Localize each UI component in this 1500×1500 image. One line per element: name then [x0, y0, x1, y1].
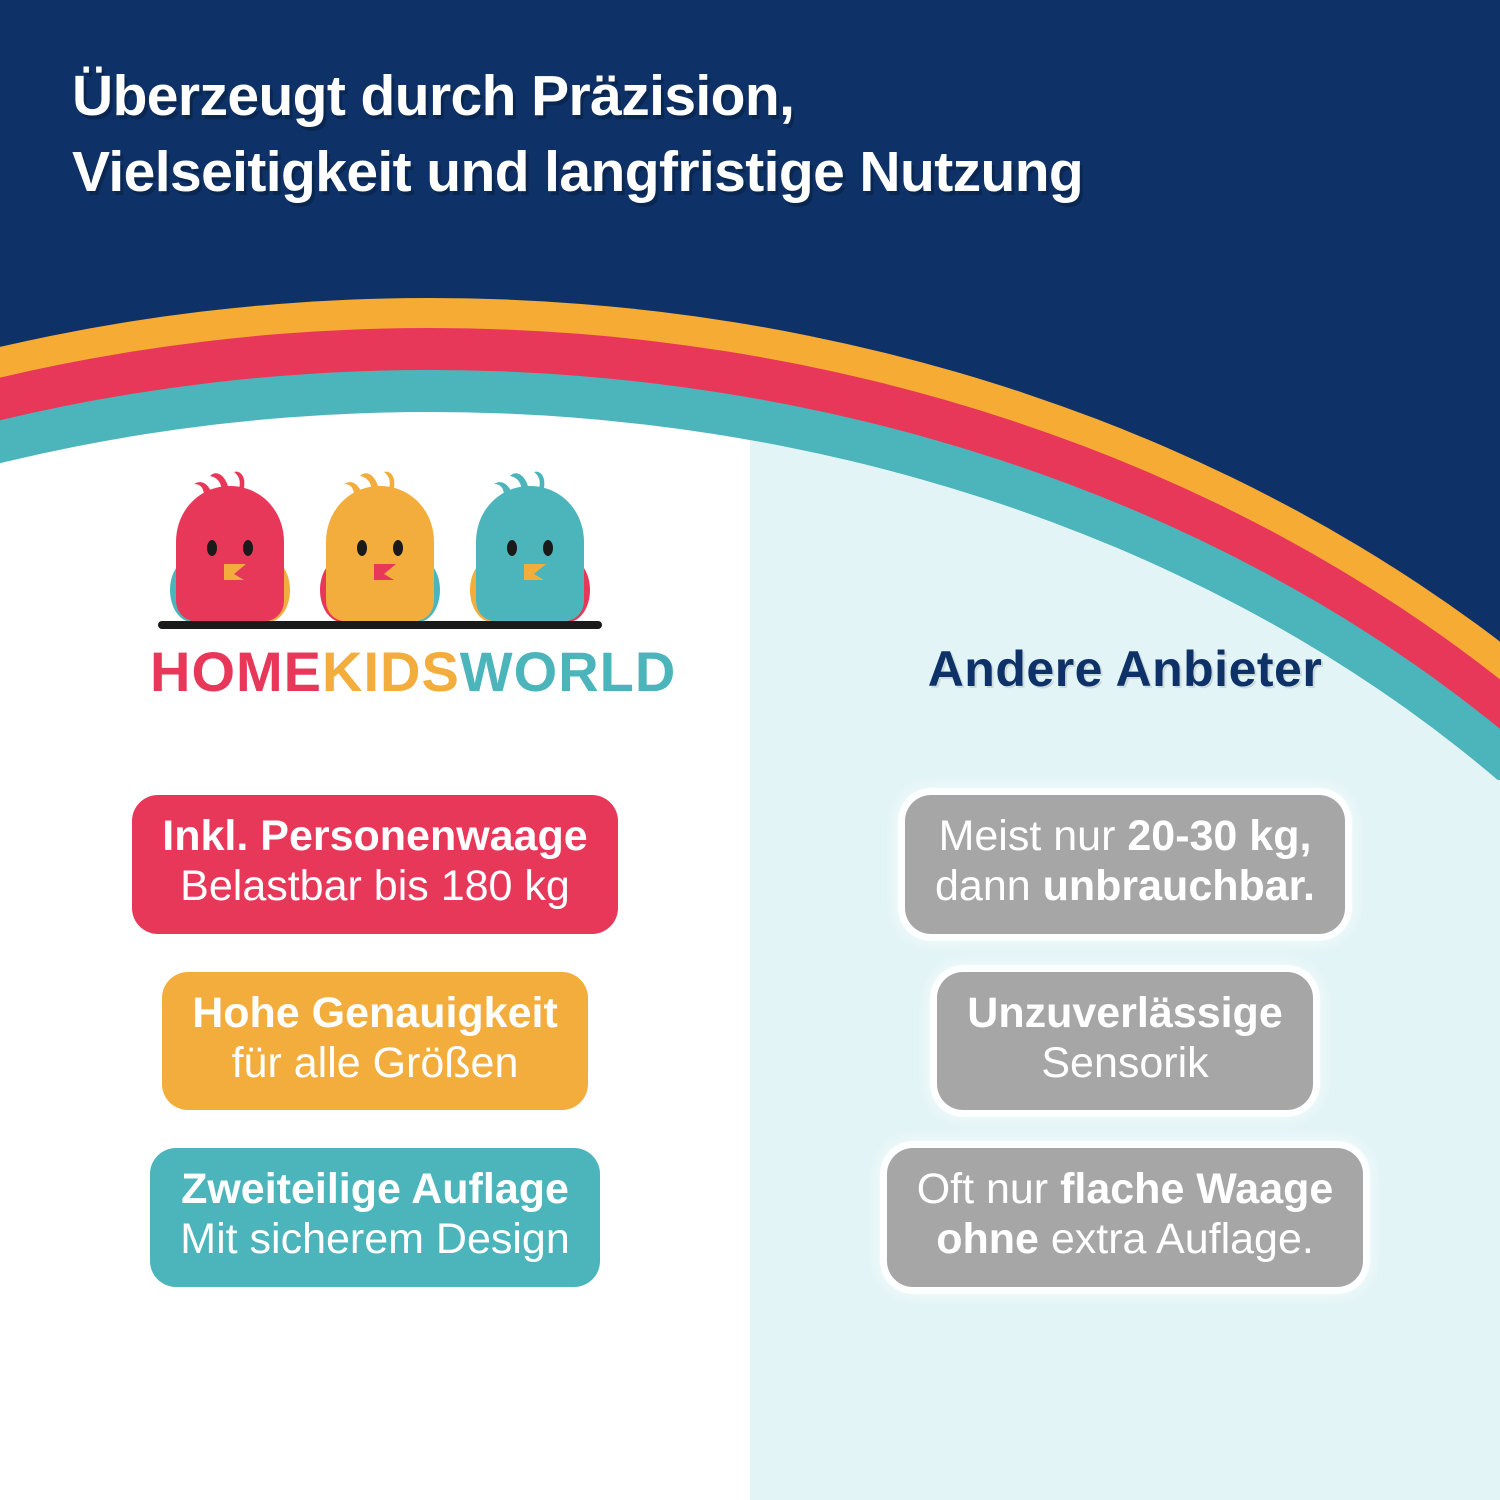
- benefit-card-3: Zweiteilige Auflage Mit sicherem Design: [150, 1148, 600, 1287]
- left-benefit-list: Inkl. Personenwaage Belastbar bis 180 kg…: [0, 795, 750, 1287]
- drawback-3-l2-plain: extra Auflage.: [1039, 1215, 1314, 1263]
- drawback-card-2: Unzuverlässige Sensorik: [937, 972, 1312, 1111]
- drawback-card-3: Oft nur flache Waage ohne extra Auflage.: [887, 1148, 1364, 1287]
- headline-line-1: Überzeugt durch Präzision,: [72, 64, 794, 128]
- headline-line-2: Vielseitigkeit und langfristige Nutzung: [72, 134, 1412, 210]
- drawback-card-2-title: Unzuverlässige: [967, 988, 1282, 1038]
- bird-teal-icon: [470, 472, 590, 622]
- bird-pink-icon: [170, 472, 290, 622]
- brand-logo: HOMEKIDSWORLD: [150, 468, 610, 700]
- drawback-card-3-line-1: Oft nur flache Waage: [917, 1164, 1334, 1214]
- wordmark-home: HOME: [150, 640, 322, 703]
- bird-orange-icon: [320, 472, 440, 622]
- drawback-1-l1-bold: 20-30 kg,: [1127, 812, 1311, 860]
- drawback-card-1-line-1: Meist nur 20-30 kg,: [935, 811, 1315, 861]
- three-birds-on-branch-icon: [150, 468, 610, 638]
- right-column-title: Andere Anbieter: [750, 640, 1500, 698]
- benefit-card-1-title: Inkl. Personenwaage: [162, 811, 587, 861]
- benefit-card-1: Inkl. Personenwaage Belastbar bis 180 kg: [132, 795, 617, 934]
- drawback-card-1: Meist nur 20-30 kg, dann unbrauchbar.: [905, 795, 1345, 934]
- drawback-1-l1-plain: Meist nur: [939, 812, 1128, 860]
- benefit-card-2: Hohe Genauigkeit für alle Größen: [162, 972, 588, 1111]
- benefit-card-2-subtitle: für alle Größen: [192, 1038, 558, 1088]
- benefit-card-2-title: Hohe Genauigkeit: [192, 988, 558, 1038]
- competitor-drawback-list: Meist nur 20-30 kg, dann unbrauchbar. Un…: [750, 795, 1500, 1287]
- drawback-3-l1-bold: flache Waage: [1060, 1165, 1333, 1213]
- benefit-card-3-subtitle: Mit sicherem Design: [180, 1214, 570, 1264]
- drawback-1-l2-plain: dann: [935, 862, 1043, 910]
- benefit-card-1-subtitle: Belastbar bis 180 kg: [162, 861, 587, 911]
- drawback-3-l1-plain: Oft nur: [917, 1165, 1060, 1213]
- drawback-card-2-subtitle: Sensorik: [967, 1038, 1282, 1088]
- drawback-card-1-line-2: dann unbrauchbar.: [935, 861, 1315, 911]
- wordmark-world: WORLD: [460, 640, 677, 703]
- comparison-infographic: Überzeugt durch Präzision, Vielseitigkei…: [0, 0, 1500, 1500]
- drawback-card-3-line-2: ohne extra Auflage.: [917, 1214, 1334, 1264]
- wordmark-kids: KIDS: [322, 640, 460, 703]
- benefit-card-3-title: Zweiteilige Auflage: [180, 1164, 570, 1214]
- drawback-3-l2-bold: ohne: [936, 1215, 1039, 1263]
- branch-line-icon: [158, 621, 602, 629]
- drawback-1-l2-bold: unbrauchbar.: [1043, 862, 1315, 910]
- page-title: Überzeugt durch Präzision, Vielseitigkei…: [72, 58, 1412, 211]
- brand-wordmark: HOMEKIDSWORLD: [150, 644, 610, 700]
